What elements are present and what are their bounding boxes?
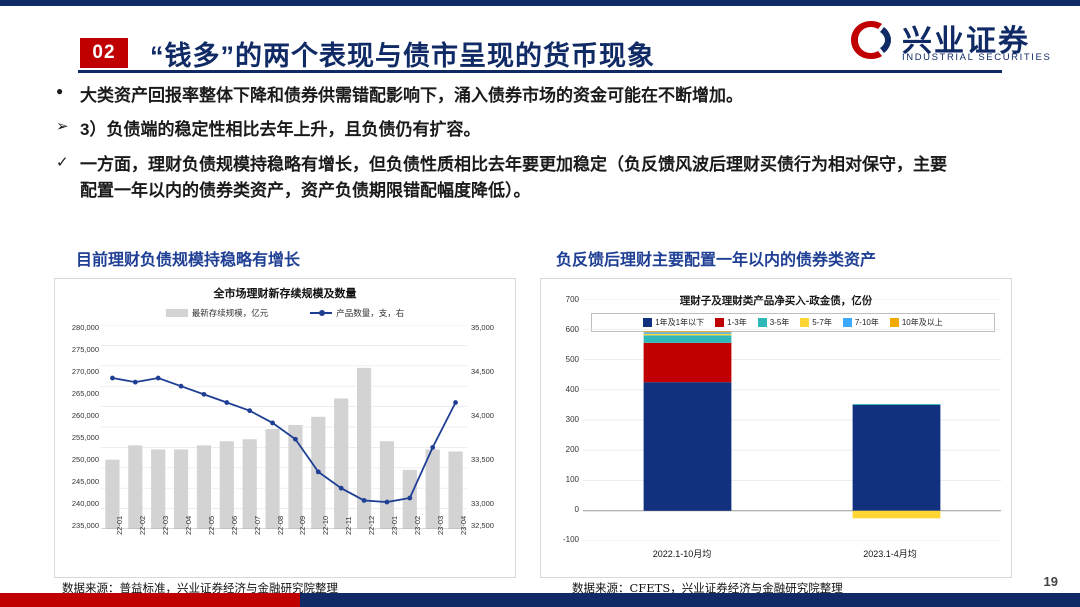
legend-item-bars: 最新存续规模，亿元 <box>166 307 269 319</box>
left-x-label: 22-12 <box>367 516 376 535</box>
header-underline <box>78 70 1002 73</box>
left-y-tick-250000: 250,000 <box>57 455 99 464</box>
left-chart-heading: 目前理财负债规模持稳略有增长 <box>76 246 300 270</box>
left-x-label: 22-03 <box>161 516 170 535</box>
left-x-label: 23-01 <box>390 516 399 535</box>
page-title: “钱多”的两个表现与债市呈现的货币现象 <box>150 34 655 73</box>
bullet-marker-2: ➢ <box>56 117 69 135</box>
right-y-tick-400: 400 <box>545 385 579 394</box>
left-y2-tick-33500: 33,500 <box>471 455 494 464</box>
left-y-tick-240000: 240,000 <box>57 499 99 508</box>
left-y2-tick-32500: 32,500 <box>471 521 494 530</box>
left-chart-title: 全市场理财新存续规模及数量 <box>55 285 515 301</box>
left-x-label: 22-05 <box>207 516 216 535</box>
legend-swatch-line-icon <box>310 312 332 314</box>
left-y-tick-275000: 275,000 <box>57 345 99 354</box>
left-x-label: 22-11 <box>344 516 353 535</box>
right-x-label-2: 2023.1-4月均 <box>805 547 975 560</box>
page-number: 19 <box>1044 574 1058 589</box>
top-accent-bar <box>0 0 1080 6</box>
left-x-label: 22-01 <box>115 516 124 535</box>
company-logo: 兴业证券 INDUSTRIAL SECURITIES <box>848 16 1058 68</box>
right-y-tick-700: 700 <box>545 295 579 304</box>
left-x-label: 22-08 <box>276 516 285 535</box>
section-number-badge: 02 <box>80 38 128 68</box>
left-x-label: 22-02 <box>138 516 147 535</box>
left-y-tick-255000: 255,000 <box>57 433 99 442</box>
left-y-tick-265000: 265,000 <box>57 389 99 398</box>
right-y-tick-100: 100 <box>545 475 579 484</box>
legend-label-bars: 最新存续规模，亿元 <box>192 307 269 319</box>
bullet-marker-3: ✓ <box>56 153 69 171</box>
left-y-tick-245000: 245,000 <box>57 477 99 486</box>
bullet-text-3: 一方面，理财负债规模持稳略有增长，但负债性质相比去年要更加稳定（负反馈风波后理财… <box>80 152 950 203</box>
left-y2-tick-33000: 33,000 <box>471 499 494 508</box>
right-chart-heading: 负反馈后理财主要配置一年以内的债券类资产 <box>556 246 876 270</box>
left-x-label: 23-03 <box>436 516 445 535</box>
left-y-tick-260000: 260,000 <box>57 411 99 420</box>
left-y2-tick-34500: 34,500 <box>471 367 494 376</box>
left-y-tick-270000: 270,000 <box>57 367 99 376</box>
right-y-tick-300: 300 <box>545 415 579 424</box>
left-x-label: 23-02 <box>413 516 422 535</box>
right-chart-plot <box>583 299 1001 541</box>
right-y-tick-600: 600 <box>545 325 579 334</box>
left-x-label: 22-06 <box>230 516 239 535</box>
left-chart-plot <box>101 325 467 529</box>
left-chart-container: 全市场理财新存续规模及数量 最新存续规模，亿元 产品数量，支，右 280,000… <box>54 278 516 578</box>
left-y2-tick-35000: 35,000 <box>471 323 494 332</box>
left-x-label: 22-04 <box>184 516 193 535</box>
bullet-text-2: 3）负债端的稳定性相比去年上升，且负债仍有扩容。 <box>80 117 480 143</box>
left-x-label: 22-10 <box>321 516 330 535</box>
right-chart-container: 理财子及理财类产品净买入-政金债，亿份 1年及1年以下 1-3年 3-5年 5-… <box>540 278 1012 578</box>
right-y-tick-200: 200 <box>545 445 579 454</box>
right-y-tick-0: 0 <box>545 505 579 514</box>
left-chart-legend: 最新存续规模，亿元 产品数量，支，右 <box>55 307 515 319</box>
left-x-label: 23-04 <box>459 516 468 535</box>
left-x-label: 22-09 <box>298 516 307 535</box>
logo-english-name: INDUSTRIAL SECURITIES <box>902 52 1051 63</box>
right-y-tick-500: 500 <box>545 355 579 364</box>
bullet-text-1: 大类资产回报率整体下降和债券供需错配影响下，涌入债券市场的资金可能在不断增加。 <box>80 83 743 109</box>
logo-mark-icon <box>848 18 894 62</box>
left-x-label: 22-07 <box>253 516 262 535</box>
footer-bar-accent <box>0 593 300 607</box>
left-y-tick-235000: 235,000 <box>57 521 99 530</box>
right-x-label-1: 2022.1-10月均 <box>597 547 767 560</box>
legend-label-line: 产品数量，支，右 <box>336 307 404 319</box>
left-y2-tick-34000: 34,000 <box>471 411 494 420</box>
left-y-tick-280000: 280,000 <box>57 323 99 332</box>
legend-item-line: 产品数量，支，右 <box>310 307 404 319</box>
bullet-marker-1: ● <box>56 84 63 98</box>
right-y-tick-neg100: -100 <box>545 535 579 544</box>
legend-swatch-bar-icon <box>166 309 188 317</box>
